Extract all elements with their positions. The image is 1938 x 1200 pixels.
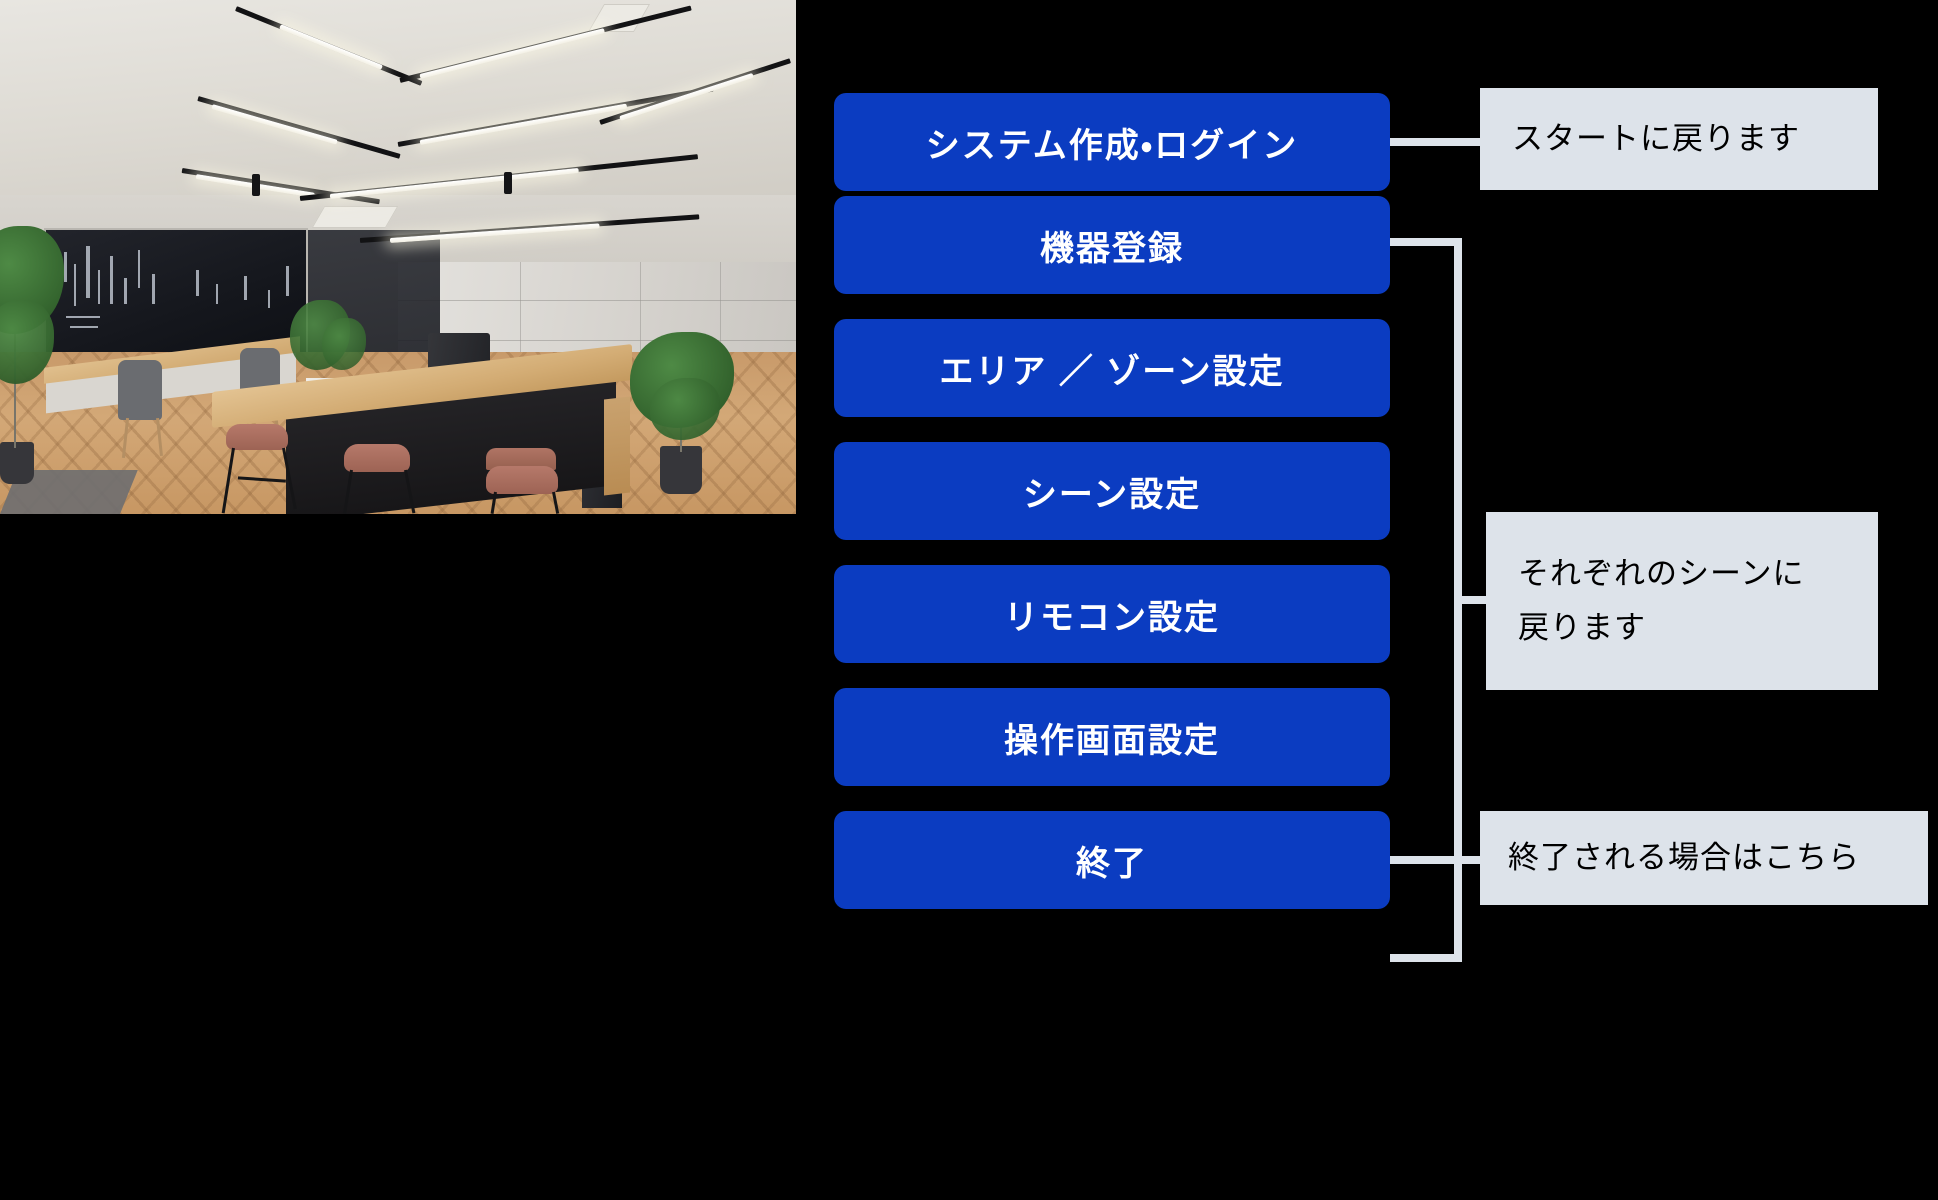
triangle-down-icon (1091, 200, 1133, 222)
note-return-to-each-scene-line-1: それぞれのシーンに (1518, 547, 1846, 601)
photo-stool (344, 444, 410, 472)
photo-chair (118, 360, 162, 420)
photo-island-end (604, 397, 630, 496)
photo-spot-head (504, 172, 512, 194)
note-finish-here-line-1: 終了される場合はこちら (1508, 831, 1900, 885)
flow-diagram-canvas: システム作成・ログイン 機器登録 エリア ／ ゾーン設定 シーン設定 リモコン設… (0, 0, 1938, 1200)
note-return-to-each-scene: それぞれのシーンに 戻ります (1486, 512, 1878, 690)
flow-step-system-create-login[interactable]: システム作成・ログイン (834, 93, 1390, 191)
photo-stool (226, 424, 288, 450)
triangle-down-icon (1091, 569, 1133, 591)
connector-start-line (1390, 138, 1480, 146)
triangle-down-icon (1091, 446, 1133, 468)
photo-window (44, 228, 308, 357)
photo-plant-pot (0, 442, 34, 484)
note-return-to-each-scene-line-2: 戻ります (1518, 601, 1846, 655)
connector-bracket-bottom (1390, 954, 1462, 962)
interior-photo (0, 0, 796, 514)
photo-ceiling (0, 0, 796, 215)
connector-bracket-top (1390, 238, 1462, 246)
connector-finish-line (1390, 856, 1480, 864)
photo-ceiling-vent (312, 206, 399, 228)
note-finish-here: 終了される場合はこちら (1480, 811, 1928, 905)
triangle-down-icon (1091, 692, 1133, 714)
photo-plant-pot (660, 446, 702, 494)
photo-spot-head (252, 174, 260, 196)
connector-scene-line (1454, 596, 1486, 604)
triangle-down-icon (1091, 815, 1133, 837)
note-return-to-start: スタートに戻ります (1480, 88, 1878, 190)
note-return-to-start-line-1: スタートに戻ります (1512, 112, 1846, 166)
triangle-down-icon (1091, 323, 1133, 345)
photo-cabinet-seam (398, 300, 796, 301)
photo-stool (486, 466, 558, 494)
